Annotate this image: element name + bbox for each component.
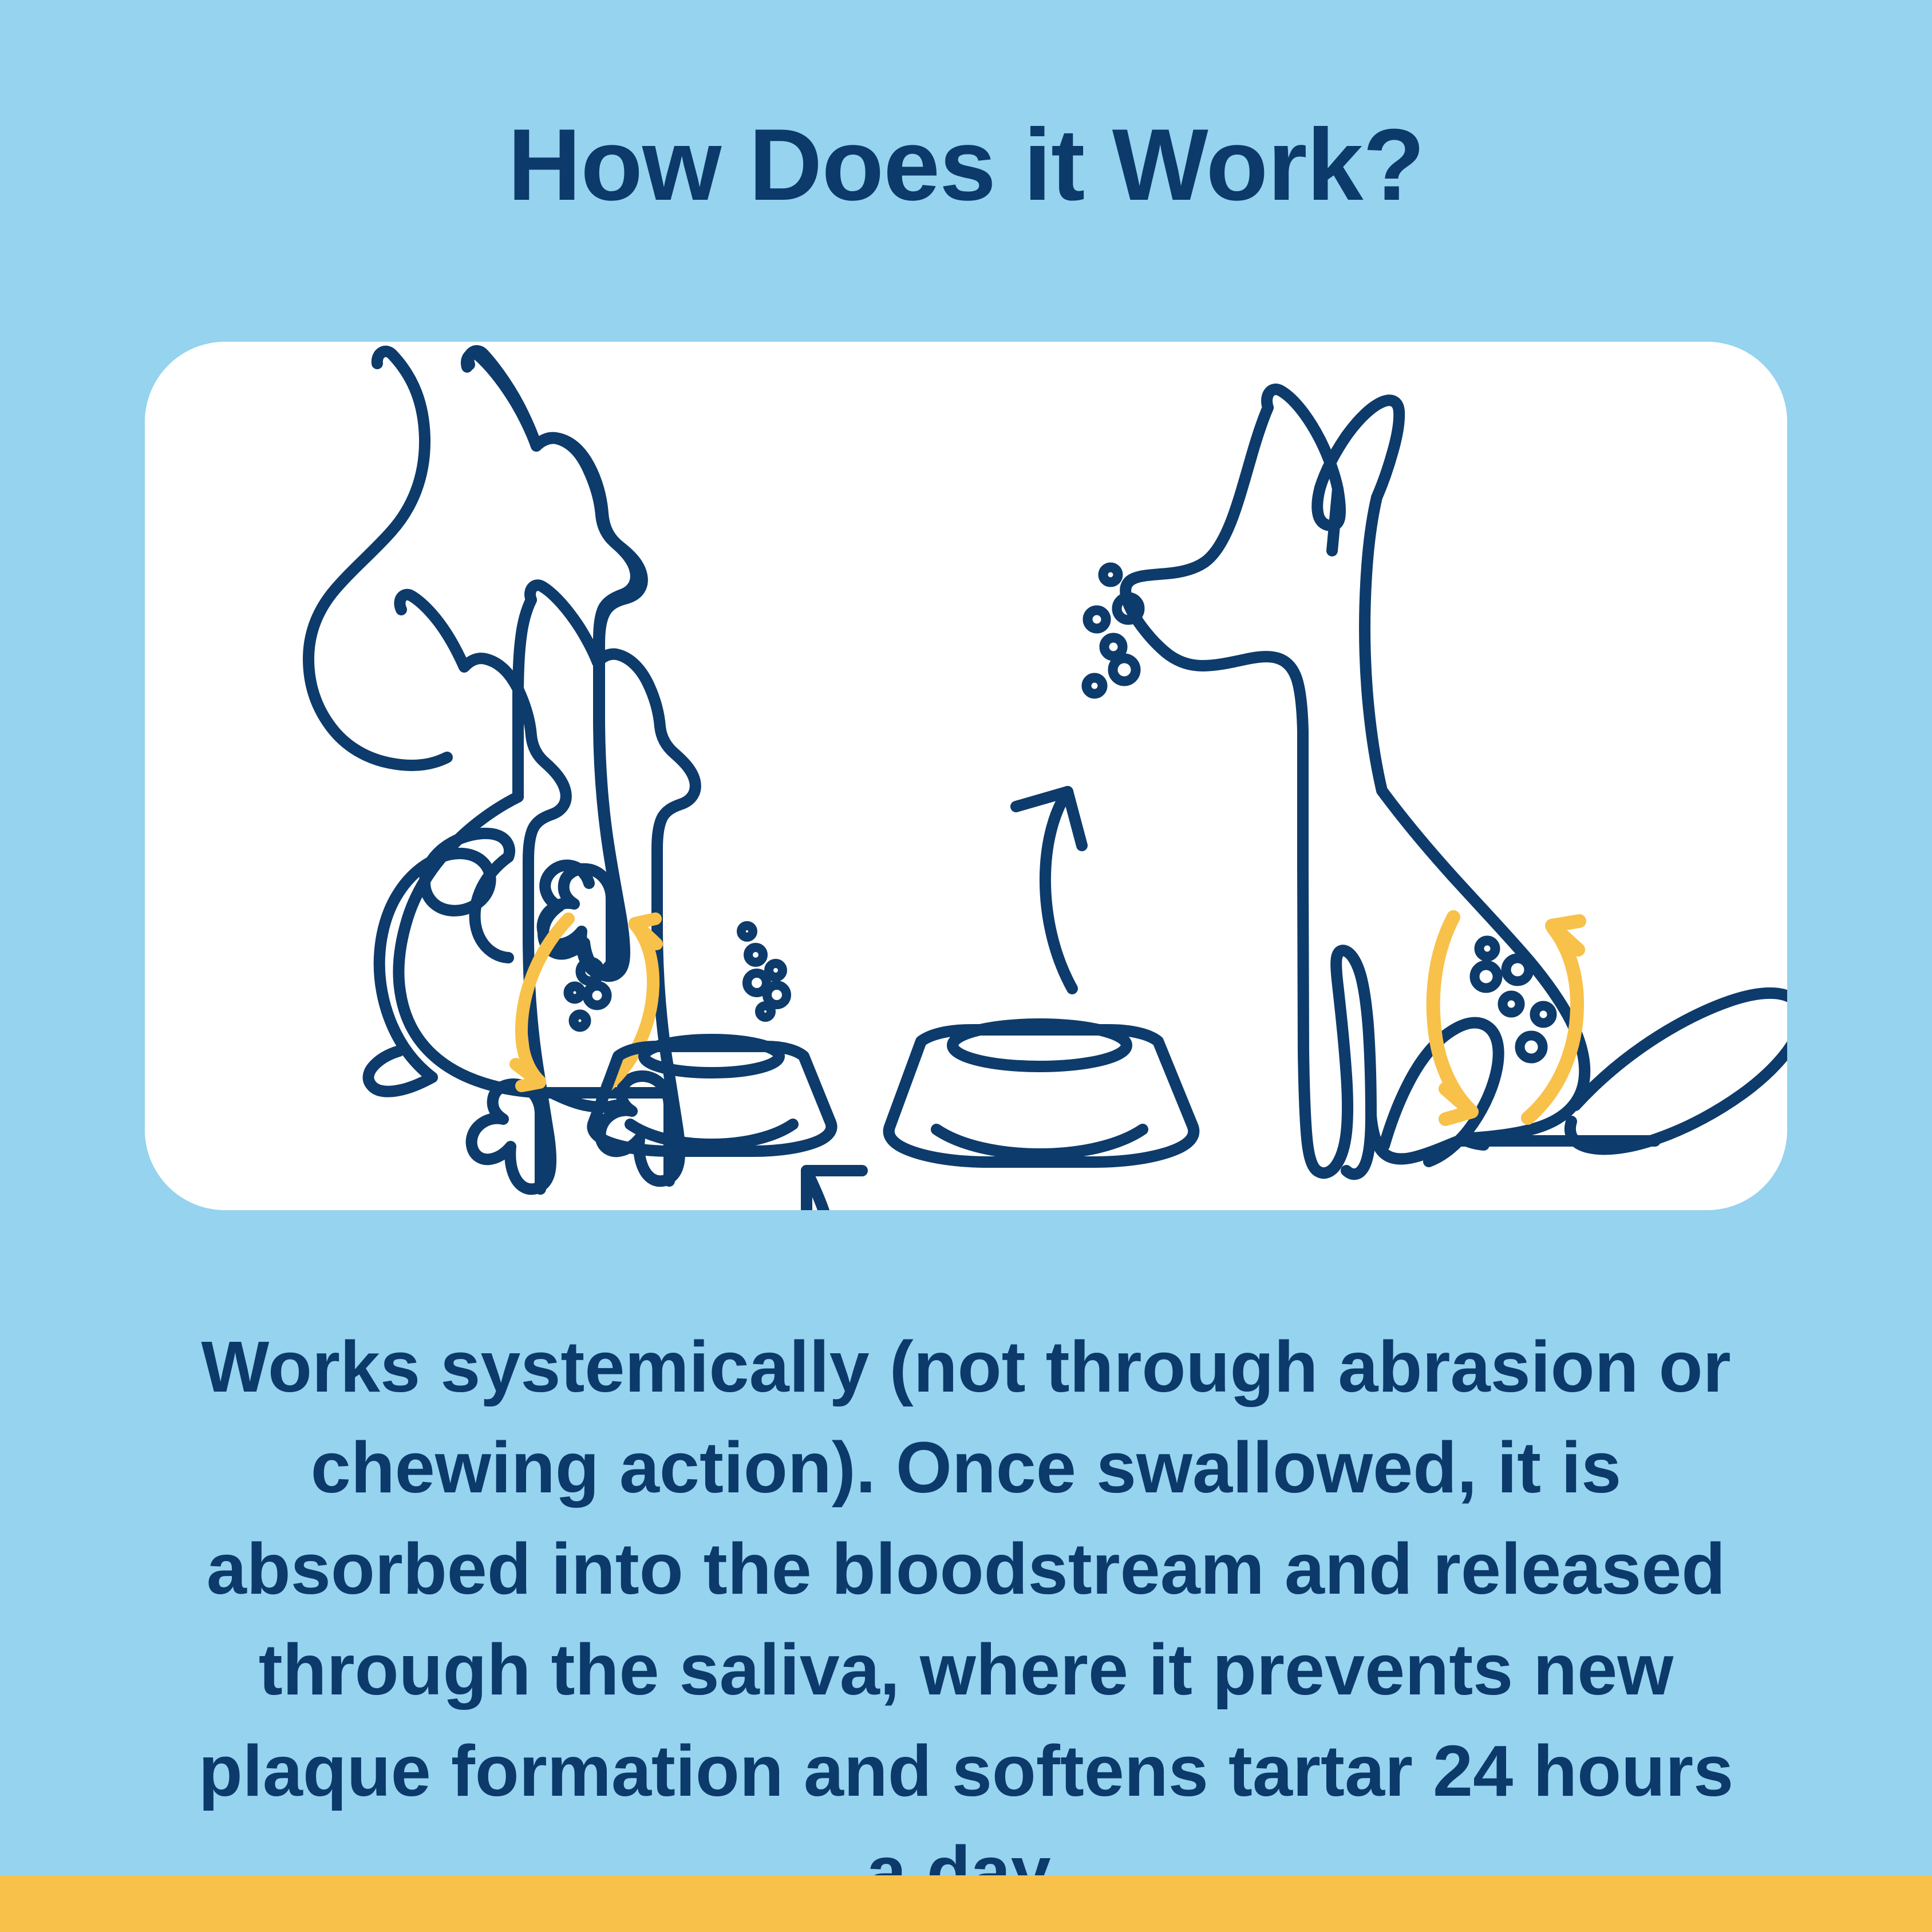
dog-intake-arrow bbox=[1016, 792, 1082, 989]
dog-food-bowl bbox=[889, 1024, 1194, 1162]
cat-mouth-particle-dots bbox=[741, 926, 787, 1017]
body-paragraph: Works systemically (not through abrasion… bbox=[189, 1317, 1743, 1922]
illustration-svg bbox=[145, 342, 1787, 1210]
infographic-root: How Does it Work? bbox=[0, 0, 1932, 1932]
dog-figure bbox=[1125, 389, 1787, 1174]
cat-intake-arrow bbox=[807, 1171, 862, 1210]
illustration-card bbox=[145, 342, 1787, 1210]
bottom-accent-bar bbox=[0, 1875, 1932, 1932]
page-title: How Does it Work? bbox=[0, 109, 1932, 221]
dog-body-particle-dots bbox=[1475, 941, 1552, 1058]
dog-circulation-arrows bbox=[1433, 917, 1579, 1119]
